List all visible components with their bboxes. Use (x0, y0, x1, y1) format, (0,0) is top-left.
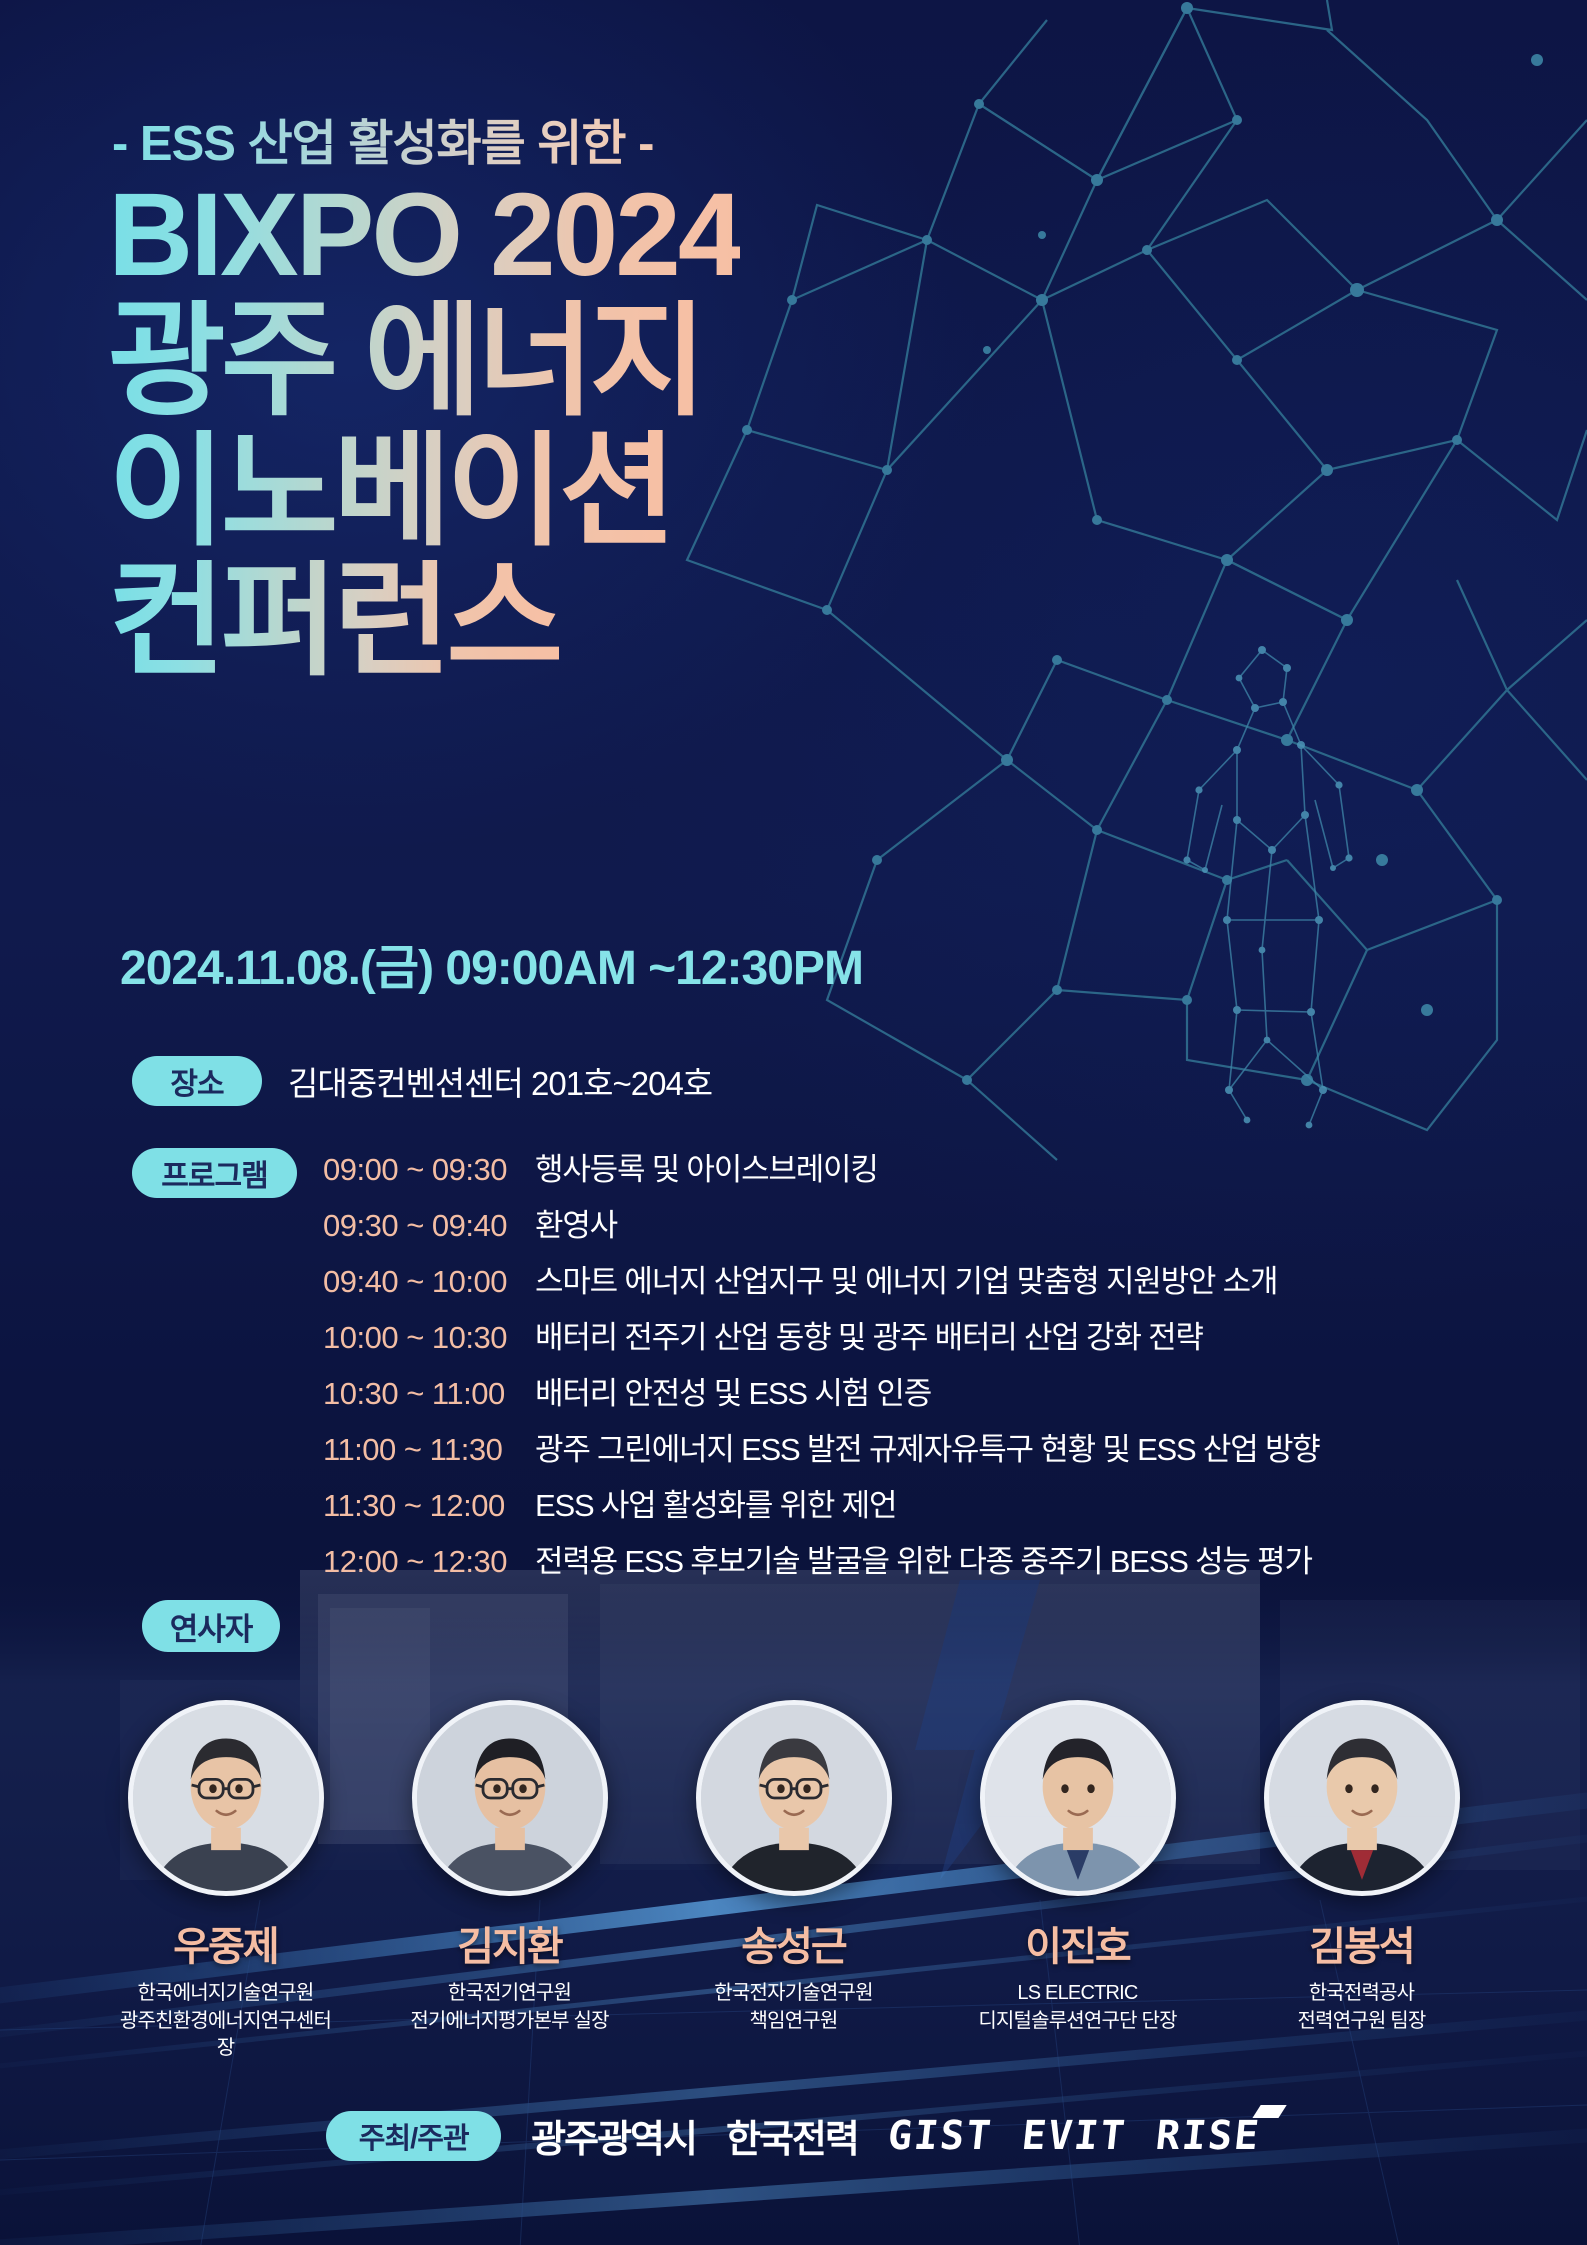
program-row: 11:00 ~ 11:30광주 그린에너지 ESS 발전 규제자유특구 현황 및… (323, 1424, 1320, 1469)
speaker-affiliation-line2: 디지털솔루션연구단 단장 (978, 2008, 1176, 2036)
speaker-affiliation-line1: 한국전기연구원 (410, 1980, 608, 2008)
program-row-time: 10:00 ~ 10:30 (323, 1320, 535, 1356)
human-silhouette-graphic (1087, 620, 1447, 1180)
program-row-time: 11:30 ~ 12:00 (323, 1488, 535, 1524)
speakers-label-badge: 연사자 (142, 1600, 280, 1652)
speaker-name: 이진호 (1025, 1914, 1129, 1972)
program-list: 09:00 ~ 09:30행사등록 및 아이스브레이킹09:30 ~ 09:40… (323, 1144, 1320, 1581)
program-row: 10:00 ~ 10:30배터리 전주기 산업 동향 및 광주 배터리 산업 강… (323, 1312, 1320, 1357)
speaker-card: 송성근한국전자기술연구원책임연구원 (688, 1700, 900, 2063)
speaker-card: 김봉석한국전력공사전력연구원 팀장 (1256, 1700, 1468, 2063)
speaker-affiliation-line1: LS ELECTRIC (978, 1980, 1176, 2008)
venue-row: 장소 김대중컨벤션센터 201호~204호 (132, 1056, 712, 1106)
logo-rise-text: RISE (1154, 2113, 1263, 2159)
speaker-affiliation: LS ELECTRIC디지털솔루션연구단 단장 (978, 1980, 1176, 2035)
poster-title-line-3: 이노베이션 (108, 430, 672, 550)
program-row: 10:30 ~ 11:00배터리 안전성 및 ESS 시험 인증 (323, 1368, 1320, 1413)
logo-evit: EVIT (1020, 2113, 1129, 2159)
speaker-affiliation-line1: 한국전력공사 (1298, 1980, 1426, 2008)
program-row: 09:00 ~ 09:30행사등록 및 아이스브레이킹 (323, 1144, 1320, 1189)
program-row: 11:30 ~ 12:00ESS 사업 활성화를 위한 제언 (323, 1480, 1320, 1525)
poster-title-line-1: BIXPO 2024 (108, 180, 740, 291)
program-row: 09:40 ~ 10:00스마트 에너지 산업지구 및 에너지 기업 맞춤형 지… (323, 1256, 1320, 1301)
speaker-affiliation: 한국에너지기술연구원광주친환경에너지연구센터장 (120, 1980, 332, 2063)
program-row-time: 09:30 ~ 09:40 (323, 1208, 535, 1244)
program-row-time: 09:40 ~ 10:00 (323, 1264, 535, 1300)
host-org-1: 한국전력 (726, 2108, 858, 2163)
program-row-time: 11:00 ~ 11:30 (323, 1432, 535, 1468)
host-org-0: 광주광역시 (531, 2108, 696, 2163)
program-row-desc: 광주 그린에너지 ESS 발전 규제자유특구 현황 및 ESS 산업 방향 (535, 1424, 1320, 1469)
speaker-affiliation: 한국전기연구원전기에너지평가본부 실장 (410, 1980, 608, 2035)
program-row: 09:30 ~ 09:40환영사 (323, 1200, 1320, 1245)
speaker-photo (128, 1700, 324, 1896)
speaker-affiliation-line1: 한국에너지기술연구원 (120, 1980, 332, 2008)
venue-value: 김대중컨벤션센터 201호~204호 (288, 1057, 712, 1105)
program-row-desc: ESS 사업 활성화를 위한 제언 (535, 1480, 896, 1525)
poster-kicker: - ESS 산업 활성화를 위한 - (112, 104, 653, 175)
logo-gist: GIST (885, 2113, 994, 2159)
speaker-photo (412, 1700, 608, 1896)
program-row-time: 09:00 ~ 09:30 (323, 1152, 535, 1188)
speaker-photo (980, 1700, 1176, 1896)
speaker-affiliation: 한국전자기술연구원책임연구원 (714, 1980, 872, 2035)
speaker-photo (696, 1700, 892, 1896)
speaker-name: 송성근 (741, 1914, 845, 1972)
program-label-badge: 프로그램 (132, 1148, 297, 1198)
speaker-affiliation-line2: 전력연구원 팀장 (1298, 2008, 1426, 2036)
poster-title-line-4: 컨퍼런스 (108, 560, 559, 680)
poster-title-line-2: 광주 에너지 (108, 300, 702, 420)
speaker-photo (1264, 1700, 1460, 1896)
program-row-desc: 전력용 ESS 후보기술 발굴을 위한 다종 중주기 BESS 성능 평가 (535, 1536, 1312, 1581)
rise-tick-icon (1253, 2105, 1287, 2118)
speaker-name: 김지환 (457, 1914, 561, 1972)
event-datetime: 2024.11.08.(금) 09:00AM ~12:30PM (120, 928, 863, 998)
speaker-affiliation-line2: 광주친환경에너지연구센터장 (120, 2008, 332, 2063)
speaker-affiliation-line2: 책임연구원 (714, 2008, 872, 2036)
footer-sponsors: 주최/주관 광주광역시 한국전력 GIST EVIT RISE (0, 2108, 1587, 2163)
speakers-label-wrap: 연사자 (142, 1600, 280, 1652)
program-section: 프로그램 09:00 ~ 09:30행사등록 및 아이스브레이킹09:30 ~ … (132, 1148, 1320, 1581)
program-row-desc: 행사등록 및 아이스브레이킹 (535, 1144, 878, 1189)
program-row-desc: 환영사 (535, 1200, 617, 1245)
speaker-affiliation-line1: 한국전자기술연구원 (714, 1980, 872, 2008)
speaker-name: 우중제 (173, 1914, 277, 1972)
speaker-name: 김봉석 (1309, 1914, 1413, 1972)
program-row-desc: 배터리 전주기 산업 동향 및 광주 배터리 산업 강화 전략 (535, 1312, 1203, 1357)
host-label-badge: 주최/주관 (326, 2111, 501, 2161)
speaker-card: 이진호LS ELECTRIC디지털솔루션연구단 단장 (972, 1700, 1184, 2063)
speaker-card: 김지환한국전기연구원전기에너지평가본부 실장 (404, 1700, 616, 2063)
program-row-time: 12:00 ~ 12:30 (323, 1544, 535, 1580)
speaker-affiliation: 한국전력공사전력연구원 팀장 (1298, 1980, 1426, 2035)
program-row-desc: 배터리 안전성 및 ESS 시험 인증 (535, 1368, 931, 1413)
logo-rise: RISE (1154, 2113, 1263, 2159)
poster-canvas: - ESS 산업 활성화를 위한 - BIXPO 2024 광주 에너지 이노베… (0, 0, 1587, 2245)
speakers-list: 우중제한국에너지기술연구원광주친환경에너지연구센터장김지환한국전기연구원전기에너… (0, 1700, 1587, 2063)
speaker-card: 우중제한국에너지기술연구원광주친환경에너지연구센터장 (120, 1700, 332, 2063)
program-row: 12:00 ~ 12:30전력용 ESS 후보기술 발굴을 위한 다종 중주기 … (323, 1536, 1320, 1581)
speaker-affiliation-line2: 전기에너지평가본부 실장 (410, 2008, 608, 2036)
program-row-time: 10:30 ~ 11:00 (323, 1376, 535, 1412)
venue-label-badge: 장소 (132, 1056, 262, 1106)
program-row-desc: 스마트 에너지 산업지구 및 에너지 기업 맞춤형 지원방안 소개 (535, 1256, 1277, 1301)
